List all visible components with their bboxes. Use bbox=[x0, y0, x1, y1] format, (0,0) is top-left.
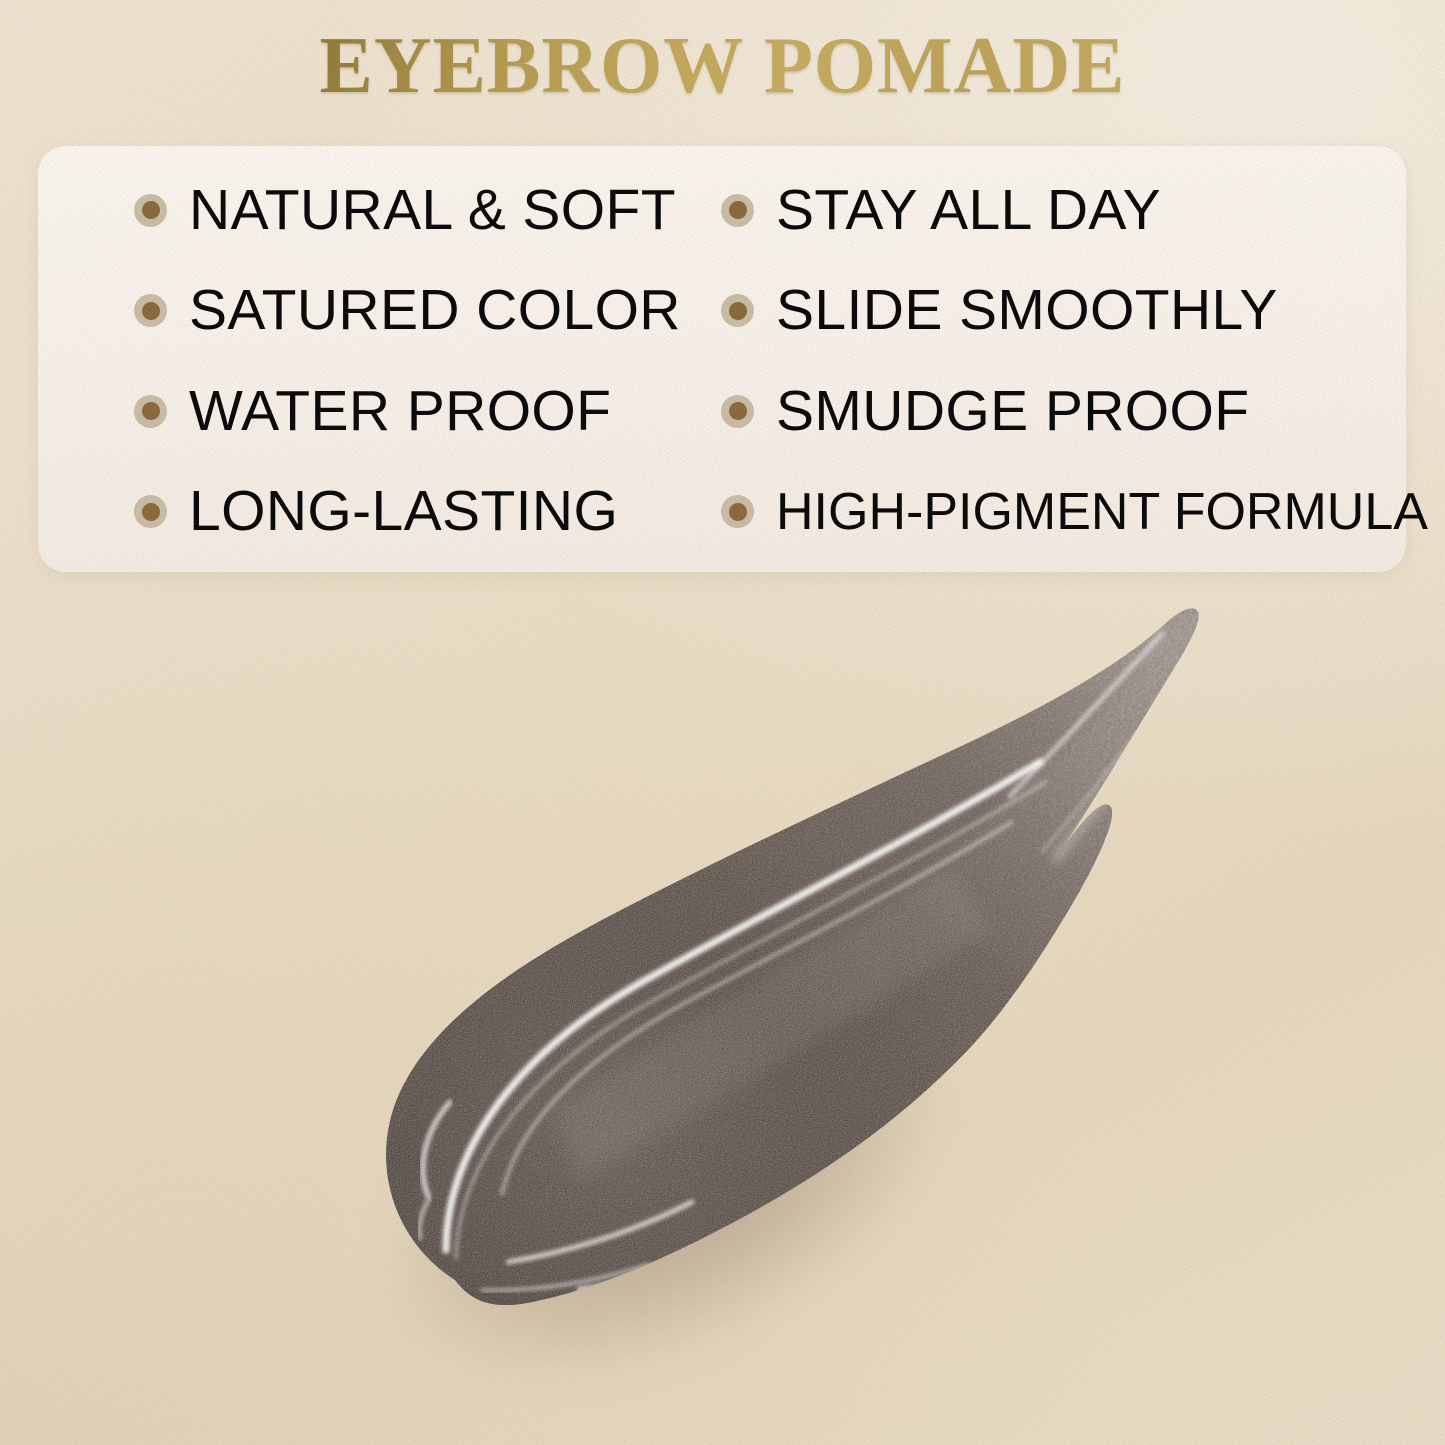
feature-item-natural-and-soft: NATURAL & SOFT bbox=[38, 182, 643, 239]
feature-label: SATURED COLOR bbox=[189, 282, 681, 339]
bullet-dot-icon bbox=[721, 395, 754, 428]
feature-item-high-pigment-formula: HIGH-PIGMENT FORMULA bbox=[643, 486, 1406, 538]
feature-item-smudge-proof: SMUDGE PROOF bbox=[643, 383, 1406, 440]
feature-label: SMUDGE PROOF bbox=[776, 383, 1250, 440]
bullet-dot-icon bbox=[721, 294, 754, 327]
bullet-dot-icon bbox=[721, 194, 754, 227]
bullet-dot-icon bbox=[134, 495, 167, 528]
bullet-dot-icon bbox=[134, 294, 167, 327]
feature-item-satured-color: SATURED COLOR bbox=[38, 282, 643, 339]
feature-item-stay-all-day: STAY ALL DAY bbox=[643, 182, 1406, 239]
page-title: EYEBROW POMADE bbox=[0, 24, 1445, 109]
feature-list-card: NATURAL & SOFT STAY ALL DAY SATURED COLO… bbox=[38, 146, 1406, 572]
feature-label: NATURAL & SOFT bbox=[189, 182, 676, 239]
feature-label: WATER PROOF bbox=[189, 383, 611, 440]
feature-label: SLIDE SMOOTHLY bbox=[776, 282, 1278, 339]
bullet-dot-icon bbox=[721, 495, 754, 528]
feature-item-water-proof: WATER PROOF bbox=[38, 383, 643, 440]
feature-label: HIGH-PIGMENT FORMULA bbox=[776, 486, 1428, 538]
bullet-dot-icon bbox=[134, 395, 167, 428]
pomade-swatch bbox=[250, 590, 1260, 1430]
feature-item-long-lasting: LONG-LASTING bbox=[38, 483, 643, 540]
product-feature-poster: EYEBROW POMADE NATURAL & SOFT STAY ALL D… bbox=[0, 0, 1445, 1445]
swatch-svg bbox=[250, 590, 1260, 1430]
feature-label: STAY ALL DAY bbox=[776, 182, 1161, 239]
swatch-artwork bbox=[250, 590, 1260, 1430]
feature-label: LONG-LASTING bbox=[189, 483, 618, 540]
feature-grid: NATURAL & SOFT STAY ALL DAY SATURED COLO… bbox=[38, 146, 1406, 572]
feature-item-slide-smoothly: SLIDE SMOOTHLY bbox=[643, 282, 1406, 339]
bullet-dot-icon bbox=[134, 194, 167, 227]
